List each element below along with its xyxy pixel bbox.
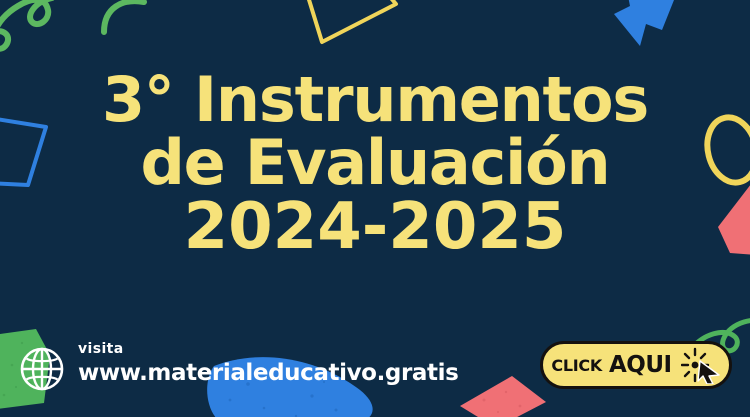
cta-aqui-label: AQUI xyxy=(609,352,672,378)
title-line-2: de Evaluación xyxy=(0,133,750,194)
visita-label: visita xyxy=(78,341,458,357)
green-squiggle-topleft-icon xyxy=(0,0,118,64)
cta-click-label: CLICK xyxy=(551,356,602,375)
title-line-1: 3° Instrumentos xyxy=(0,70,750,131)
blue-arrow-topright-icon xyxy=(590,0,700,64)
promo-banner: 3° Instrumentos de Evaluación 2024-2025 … xyxy=(0,0,750,417)
banner-footer: visita www.materialeducativo.gratis CLIC… xyxy=(0,327,750,417)
click-aqui-button[interactable]: CLICK AQUI xyxy=(540,341,732,389)
cursor-click-icon xyxy=(681,346,721,384)
visit-text-group: visita www.materialeducativo.gratis xyxy=(78,341,458,386)
yellow-square-outline-top-icon xyxy=(300,0,420,60)
title-line-3: 2024-2025 xyxy=(0,196,750,259)
site-url[interactable]: www.materialeducativo.gratis xyxy=(78,360,458,386)
green-arc-topleft-icon xyxy=(100,0,160,36)
globe-icon xyxy=(18,345,66,393)
banner-title: 3° Instrumentos de Evaluación 2024-2025 xyxy=(0,70,750,258)
